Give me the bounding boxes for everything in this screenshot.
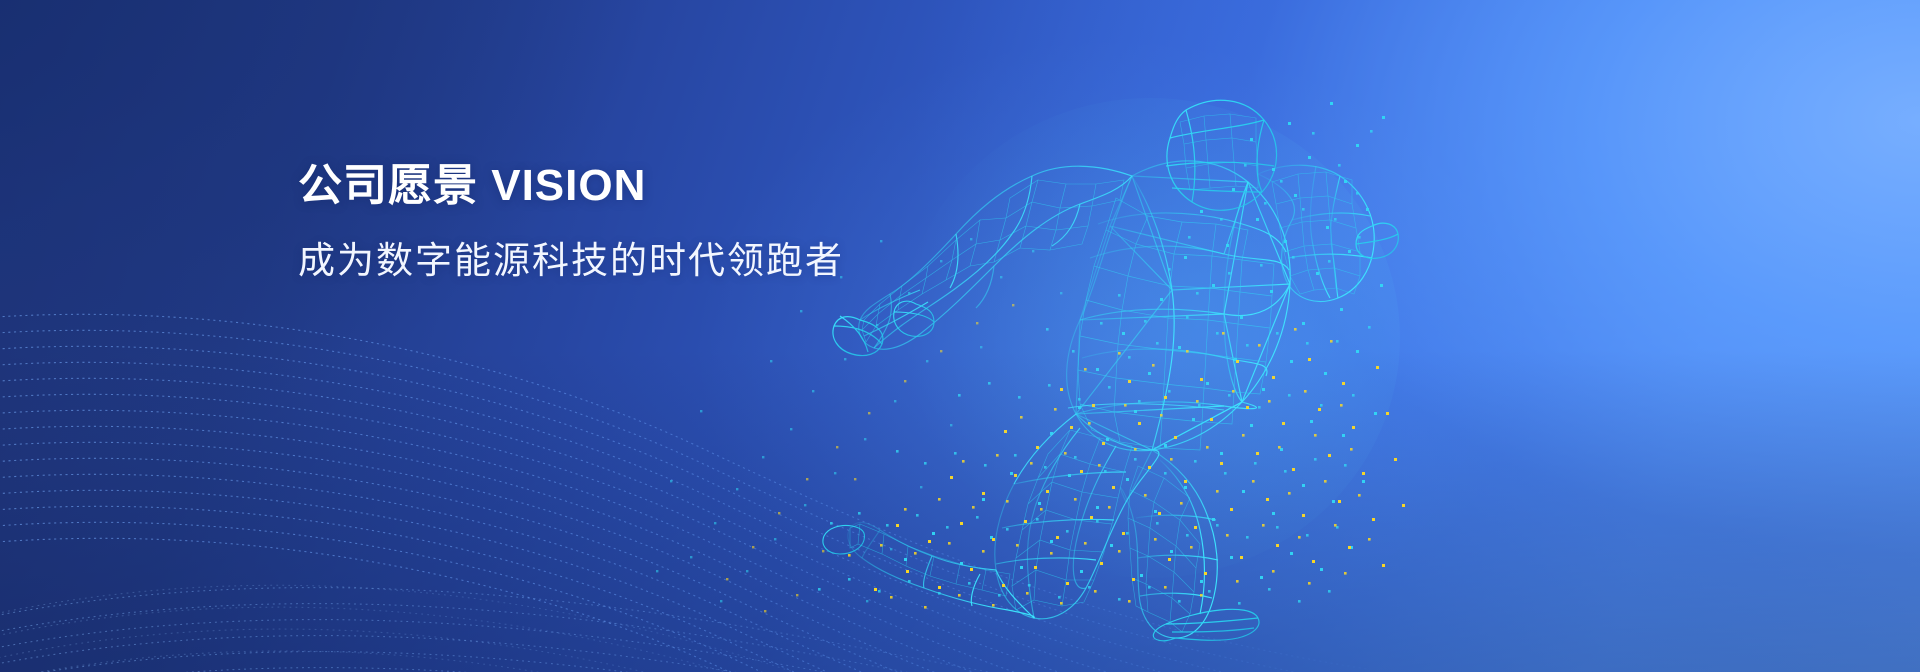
vision-text-block: 公司愿景 VISION 成为数字能源科技的时代领跑者 bbox=[298, 158, 844, 284]
background-bottom-shade bbox=[0, 0, 1920, 672]
page-title: 公司愿景 VISION bbox=[298, 158, 844, 213]
page-subtitle: 成为数字能源科技的时代领跑者 bbox=[298, 237, 844, 284]
vision-banner: 公司愿景 VISION 成为数字能源科技的时代领跑者 bbox=[0, 0, 1920, 672]
